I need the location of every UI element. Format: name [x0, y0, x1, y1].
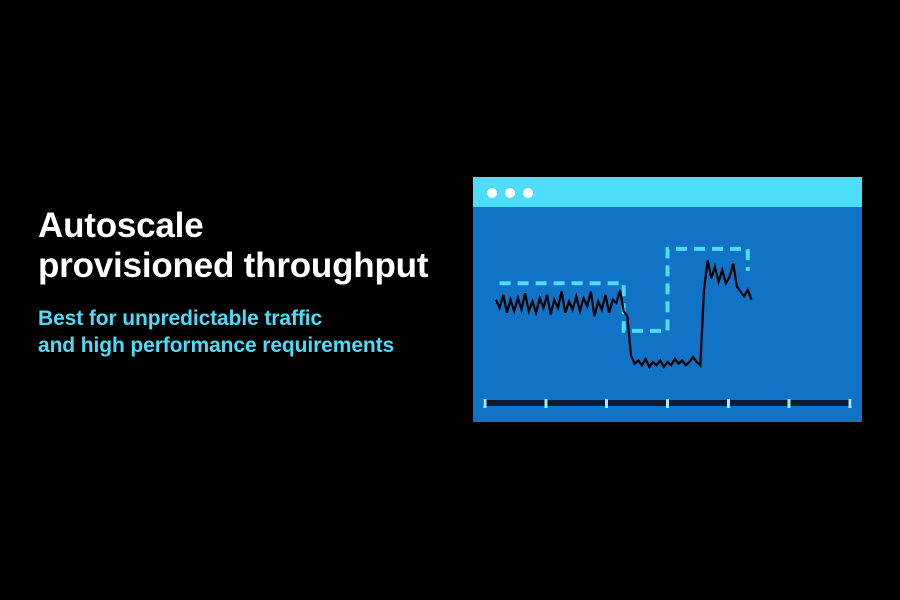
window-dot-2-icon[interactable]: [505, 188, 515, 198]
browser-window-mockup: [473, 177, 862, 422]
chart-x-axis: [483, 399, 852, 408]
window-titlebar: [473, 177, 862, 207]
window-dot-1-icon[interactable]: [487, 188, 497, 198]
chart-svg: [473, 207, 862, 422]
page-subtitle: Best for unpredictable traffic and high …: [38, 305, 458, 359]
slide-root: Autoscale provisioned throughput Best fo…: [0, 0, 900, 600]
window-dot-3-icon[interactable]: [523, 188, 533, 198]
text-block: Autoscale provisioned throughput Best fo…: [38, 206, 458, 359]
page-title: Autoscale provisioned throughput: [38, 206, 458, 286]
provisioned-step-series: [500, 249, 748, 331]
throughput-chart: [473, 207, 862, 422]
